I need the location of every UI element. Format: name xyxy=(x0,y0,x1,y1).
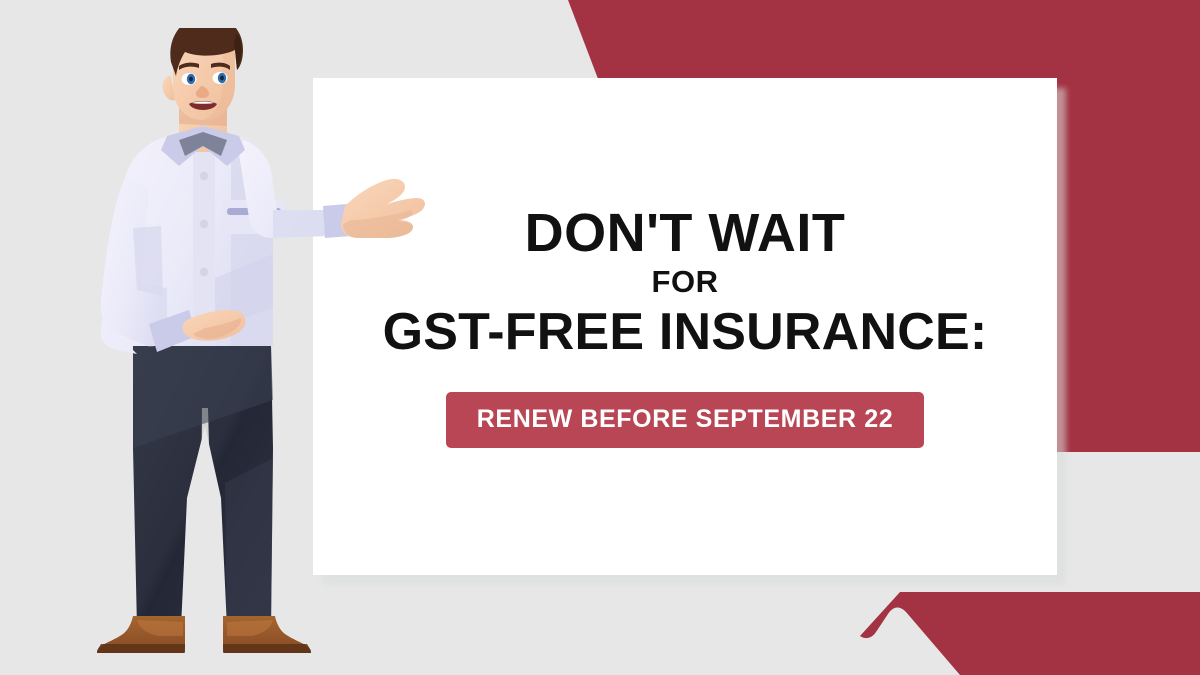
headline-line-2: FOR xyxy=(652,263,719,302)
headline-line-3: GST-FREE INSURANCE: xyxy=(383,304,988,360)
trousers xyxy=(133,346,273,628)
head xyxy=(162,28,243,120)
right-arm xyxy=(239,140,351,238)
left-shoe xyxy=(97,616,185,653)
headline-line-1: DON'T WAIT xyxy=(525,205,846,261)
businessman-illustration xyxy=(75,28,435,653)
promo-banner: DON'T WAIT FOR GST-FREE INSURANCE: RENEW… xyxy=(0,0,1200,675)
right-shoe xyxy=(223,616,311,653)
cta-badge[interactable]: RENEW BEFORE SEPTEMBER 22 xyxy=(446,392,924,448)
maroon-shape-bottom-wedge xyxy=(860,592,1200,675)
right-hand xyxy=(341,179,425,238)
